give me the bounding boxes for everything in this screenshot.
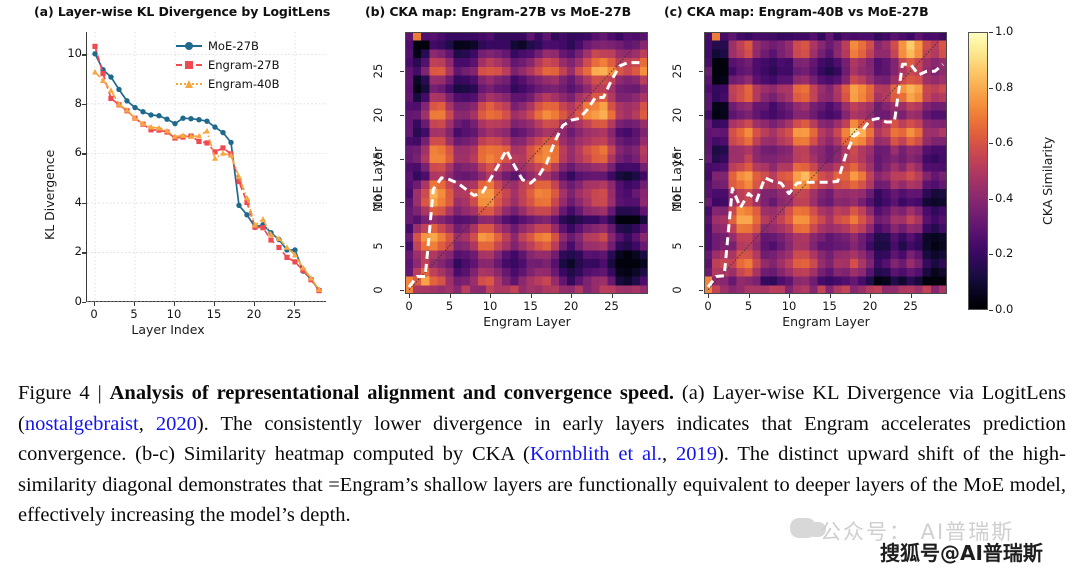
citation-kornblith-author[interactable]: Kornblith et al.	[530, 443, 662, 465]
legend-label: Engram-27B	[208, 58, 280, 72]
panel-a-x-tickmark	[94, 302, 95, 306]
colorbar-tickmark	[989, 143, 993, 144]
panel-a-y-tickmark	[82, 153, 86, 154]
legend-item-engram-27b[interactable]: Engram-27B	[176, 55, 280, 74]
figure-4: (a) Layer-wise KL Divergence by LogitLen…	[0, 0, 1080, 575]
panel-b-y-tickmark	[400, 159, 404, 160]
panel-c-x-tick: 25	[903, 299, 918, 313]
panel-c-y-tick: 20	[670, 108, 684, 123]
legend-label: MoE-27B	[208, 39, 259, 53]
panel-a-y-axis-label: KL Divergence	[42, 150, 57, 240]
colorbar-label: CKA Similarity	[1040, 137, 1055, 225]
panel-b-y-tick: 20	[371, 108, 385, 123]
legend-item-moe-27b[interactable]: MoE-27B	[176, 36, 280, 55]
panel-a-x-tickmark	[214, 302, 215, 306]
panel-a-x-tickmark	[174, 302, 175, 306]
panel-c-heatmap: 0510152025 0510152025 MoE Layer Engram L…	[659, 22, 959, 312]
legend-marker-icon	[176, 40, 202, 52]
caption-prefix: Figure 4 |	[18, 382, 110, 404]
panel-b-y-tickmark	[400, 71, 404, 72]
panel-b-heatmap: 0510152025 0510152025 MoE Layer Engram L…	[360, 22, 660, 312]
panel-b-x-tick: 5	[446, 299, 453, 313]
colorbar-tickmark	[989, 310, 993, 311]
panel-c-x-tickmark	[708, 294, 709, 298]
panel-c-x-tickmark	[830, 294, 831, 298]
panel-b-y-tickmark	[400, 115, 404, 116]
panel-c-y-tick: 25	[670, 64, 684, 79]
panel-a-x-tickmark	[294, 302, 295, 306]
panel-c-y-tick: 5	[670, 242, 684, 249]
figure-caption: Figure 4 | Analysis of representational …	[18, 378, 1066, 531]
panel-b-x-tick: 15	[523, 299, 538, 313]
panel-b-x-tick: 0	[405, 299, 412, 313]
panel-c-x-tick: 10	[782, 299, 797, 313]
panel-b-y-tickmark	[400, 246, 404, 247]
legend-marker-icon	[176, 59, 202, 71]
panel-b-y-tickmark	[400, 202, 404, 203]
panel-c-plot-area	[704, 32, 947, 294]
panel-b-x-tickmark	[531, 294, 532, 298]
panel-b-x-tickmark	[612, 294, 613, 298]
colorbar-tickmark	[989, 254, 993, 255]
panel-c-y-axis-label: MoE Layer	[669, 147, 684, 212]
colorbar-tick: 1.0	[995, 24, 1013, 38]
caption-bold-title: Analysis of representational alignment a…	[110, 382, 674, 404]
panel-c-x-tickmark	[749, 294, 750, 298]
panel-a-y-tickmark	[82, 54, 86, 55]
panel-b-x-tickmark	[571, 294, 572, 298]
panel-a-y-tickmark	[82, 203, 86, 204]
panel-b-y-axis-label: MoE Layer	[370, 147, 385, 212]
panel-a-legend[interactable]: MoE-27BEngram-27BEngram-40B	[176, 36, 280, 93]
panel-b-x-tick: 20	[564, 299, 579, 313]
panel-b-x-tickmark	[490, 294, 491, 298]
panel-c-y-tickmark	[699, 290, 703, 291]
citation-kornblith-year[interactable]: 2019	[676, 443, 717, 465]
panel-b-x-tick: 10	[483, 299, 498, 313]
panel-b-y-tickmark	[400, 290, 404, 291]
panel-a-x-tickmark	[134, 302, 135, 306]
panel-c-x-tick: 20	[863, 299, 878, 313]
panel-a-y-tick: 10	[64, 46, 82, 60]
citation-nostalgebraist-author[interactable]: nostalgebraist	[25, 413, 139, 435]
panel-a-x-tick: 5	[130, 307, 137, 321]
legend-marker-icon	[176, 78, 202, 90]
panel-b-overlays	[405, 32, 648, 294]
panel-a-x-tick: 15	[207, 307, 222, 321]
panel-a-y-tickmark	[82, 302, 86, 303]
panel-b-x-tickmark	[409, 294, 410, 298]
panel-c-y-tickmark	[699, 159, 703, 160]
panel-c-x-tick: 0	[704, 299, 711, 313]
panel-a-title: (a) Layer-wise KL Divergence by LogitLen…	[34, 4, 330, 19]
panel-b-y-tick: 25	[371, 64, 385, 79]
colorbar	[968, 32, 988, 310]
caption-cite1-sep: ,	[139, 413, 156, 435]
panel-c-y-tick: 0	[670, 286, 684, 293]
panel-c-title: (c) CKA map: Engram-40B vs MoE-27B	[664, 4, 929, 19]
panel-c-x-axis-label: Engram Layer	[782, 314, 870, 329]
citation-nostalgebraist-year[interactable]: 2020	[156, 413, 197, 435]
legend-label: Engram-40B	[208, 77, 280, 91]
colorbar-tickmark	[989, 88, 993, 89]
panel-a-y-tick: 8	[64, 96, 82, 110]
panel-b-y-tick: 0	[371, 286, 385, 293]
panel-b-x-tickmark	[450, 294, 451, 298]
panel-a-x-tick: 20	[247, 307, 262, 321]
panel-a-x-tickmark	[254, 302, 255, 306]
panel-a-y-tick: 4	[64, 195, 82, 209]
panel-b-x-axis-label: Engram Layer	[483, 314, 571, 329]
panel-c-overlays	[704, 32, 947, 294]
panel-c-y-tickmark	[699, 71, 703, 72]
panel-b-plot-area	[405, 32, 648, 294]
panel-c-x-tickmark	[870, 294, 871, 298]
colorbar-tickmark	[989, 32, 993, 33]
panel-c-y-tickmark	[699, 246, 703, 247]
colorbar-tick: 0.4	[995, 191, 1013, 205]
colorbar-tick: 0.0	[995, 302, 1013, 316]
panel-c-x-tick: 15	[822, 299, 837, 313]
panel-a-x-tick: 25	[287, 307, 302, 321]
colorbar-tick: 0.2	[995, 246, 1013, 260]
legend-item-engram-40b[interactable]: Engram-40B	[176, 74, 280, 93]
panel-c-x-tick: 5	[745, 299, 752, 313]
panel-c-x-tickmark	[789, 294, 790, 298]
panel-c-y-tickmark	[699, 115, 703, 116]
panel-a-y-tickmark	[82, 104, 86, 105]
panel-a-x-tick: 0	[90, 307, 97, 321]
panel-c-x-tickmark	[911, 294, 912, 298]
panel-a-x-axis-label: Layer Index	[131, 322, 204, 337]
panel-b-y-tick: 5	[371, 242, 385, 249]
panel-c-y-tickmark	[699, 202, 703, 203]
panel-a-y-tick: 6	[64, 145, 82, 159]
panel-a-y-tick: 0	[64, 294, 82, 308]
watermark-sohu-text: 搜狐号@AI普瑞斯	[880, 537, 1043, 566]
panel-b-x-tick: 25	[604, 299, 619, 313]
panel-b-title: (b) CKA map: Engram-27B vs MoE-27B	[365, 4, 631, 19]
panel-a-line-chart: 0246810 0510152025 KL Divergence Layer I…	[28, 22, 348, 312]
colorbar-tick: 0.6	[995, 135, 1013, 149]
panel-a-y-tick: 2	[64, 244, 82, 258]
colorbar-tickmark	[989, 199, 993, 200]
colorbar-tick: 0.8	[995, 80, 1013, 94]
panel-a-y-tickmark	[82, 252, 86, 253]
panel-a-x-tick: 10	[167, 307, 182, 321]
caption-cite2-sep: ,	[662, 443, 676, 465]
